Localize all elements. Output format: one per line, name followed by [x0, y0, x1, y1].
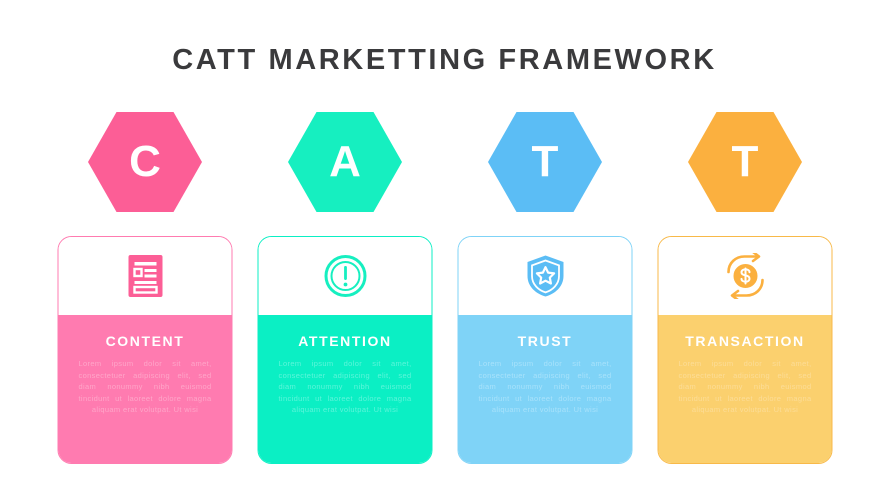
card-description: Lorem ipsum dolor sit amet, consectetuer…	[471, 358, 620, 416]
hexagon-letter: C	[129, 140, 161, 184]
card-title: ATTENTION	[271, 333, 420, 349]
hexagon-badge-transaction[interactable]: T	[688, 112, 802, 212]
step-column-attention: A ATTENTION Lorem ipsum dolor sit amet, …	[245, 0, 445, 500]
card-icon-area	[459, 237, 632, 315]
infographic-page: CATT MARKETTING FRAMEWORK C	[0, 0, 889, 500]
card-icon-area	[59, 237, 232, 315]
card-icon-area	[659, 237, 832, 315]
hexagon-badge-content[interactable]: C	[88, 112, 202, 212]
card-description: Lorem ipsum dolor sit amet, consectetuer…	[671, 358, 820, 416]
step-column-trust: T TRUST Lorem ipsum dolor sit amet, cons…	[445, 0, 645, 500]
step-card-trust[interactable]: TRUST Lorem ipsum dolor sit amet, consec…	[458, 236, 633, 464]
hexagon-shape: T	[488, 112, 602, 212]
card-body: CONTENT Lorem ipsum dolor sit amet, cons…	[59, 315, 232, 463]
article-document-icon	[128, 255, 162, 297]
card-body: TRANSACTION Lorem ipsum dolor sit amet, …	[659, 315, 832, 463]
hexagon-letter: T	[732, 140, 759, 184]
steps-container: C CONTENT Lorem i	[0, 0, 889, 500]
exclamation-circle-icon	[324, 255, 366, 297]
hexagon-badge-trust[interactable]: T	[488, 112, 602, 212]
dollar-exchange-icon	[720, 253, 770, 299]
step-card-content[interactable]: CONTENT Lorem ipsum dolor sit amet, cons…	[58, 236, 233, 464]
step-column-transaction: T	[645, 0, 845, 500]
hexagon-letter: A	[329, 140, 361, 184]
card-description: Lorem ipsum dolor sit amet, consectetuer…	[271, 358, 420, 416]
step-card-attention[interactable]: ATTENTION Lorem ipsum dolor sit amet, co…	[258, 236, 433, 464]
hexagon-badge-attention[interactable]: A	[288, 112, 402, 212]
card-icon-area	[259, 237, 432, 315]
hexagon-letter: T	[532, 140, 559, 184]
card-title: TRUST	[471, 333, 620, 349]
step-card-transaction[interactable]: TRANSACTION Lorem ipsum dolor sit amet, …	[658, 236, 833, 464]
hexagon-shape: T	[688, 112, 802, 212]
card-body: ATTENTION Lorem ipsum dolor sit amet, co…	[259, 315, 432, 463]
card-description: Lorem ipsum dolor sit amet, consectetuer…	[71, 358, 220, 416]
step-column-content: C CONTENT Lorem i	[45, 0, 245, 500]
card-title: TRANSACTION	[671, 333, 820, 349]
hexagon-shape: C	[88, 112, 202, 212]
card-title: CONTENT	[71, 333, 220, 349]
hexagon-shape: A	[288, 112, 402, 212]
shield-star-icon	[525, 254, 565, 298]
card-body: TRUST Lorem ipsum dolor sit amet, consec…	[459, 315, 632, 463]
